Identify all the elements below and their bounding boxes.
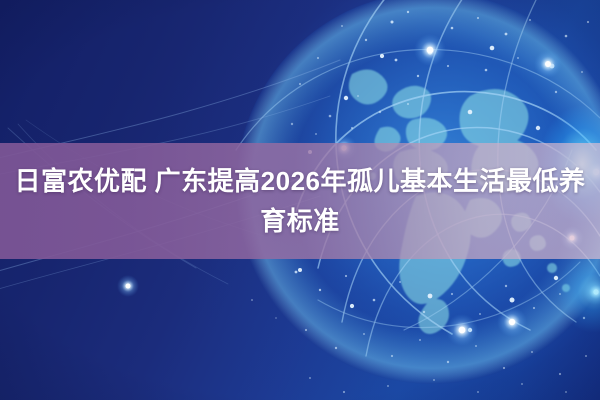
headline-band: 日富农优配 广东提高2026年孤儿基本生活最低养 育标准 [0, 143, 600, 259]
headline-line-1: 日富农优配 广东提高2026年孤儿基本生活最低养 [14, 161, 585, 201]
banner-image: 日富农优配 广东提高2026年孤儿基本生活最低养 育标准 [0, 0, 600, 400]
headline-line-2: 育标准 [260, 201, 340, 241]
